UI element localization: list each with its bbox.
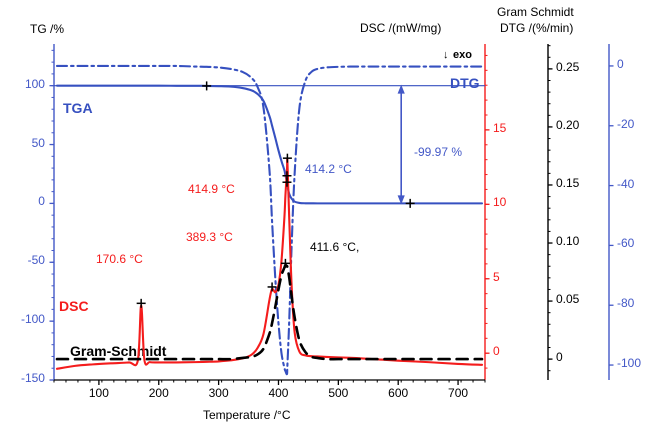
annotation-label-1: 389.3 °C xyxy=(186,230,233,244)
dsc-axis-tick-label: 0 xyxy=(493,344,500,358)
plot-canvas xyxy=(0,0,650,432)
thermal-analysis-figure: TG /% Gram Schmidt DSC /(mW/mg) DTG /(%/… xyxy=(0,0,650,432)
x-axis-tick-label: 200 xyxy=(146,386,172,400)
series-curve-dtg xyxy=(57,66,482,374)
tg-axis-tick-label: 50 xyxy=(31,136,45,150)
tg-axis-tick-label: -100 xyxy=(17,312,45,326)
gram-schmidt-axis-tick-label: 0.20 xyxy=(556,118,579,132)
gram-schmidt-axis-tick-label: 0.15 xyxy=(556,176,579,190)
curves-layer xyxy=(57,66,482,374)
x-axis-tick-label: 700 xyxy=(445,386,471,400)
axes-layer xyxy=(50,44,614,385)
x-axis-tick-label: 100 xyxy=(86,386,112,400)
x-axis-tick-label: 600 xyxy=(385,386,411,400)
x-axis-tick-label: 500 xyxy=(325,386,351,400)
annotation-label-3: 414.2 °C xyxy=(305,162,352,176)
annotation-label-0: 170.6 °C xyxy=(96,252,143,266)
x-axis-tick-label: 400 xyxy=(265,386,291,400)
tg-axis-tick-label: -150 xyxy=(17,371,45,385)
gram-schmidt-axis-tick-label: 0 xyxy=(556,350,563,364)
dsc-axis-tick-label: 5 xyxy=(493,270,500,284)
dtg-axis-tick-label: 0 xyxy=(617,57,624,71)
series-curve-gram-schmidt xyxy=(57,265,482,359)
dsc-axis-tick-label: 15 xyxy=(493,121,506,135)
dtg-axis-tick-label: -40 xyxy=(617,177,634,191)
annotation-label-4: 411.6 °C, xyxy=(310,240,359,254)
tg-axis-tick-label: 100 xyxy=(24,77,45,91)
dtg-axis-tick-label: -60 xyxy=(617,236,634,250)
dtg-axis-tick-label: -20 xyxy=(617,117,634,131)
annotation-label-5: -99.97 % xyxy=(414,145,462,159)
gram-schmidt-axis-tick-label: 0.25 xyxy=(556,60,579,74)
dtg-axis-tick-label: -80 xyxy=(617,296,634,310)
x-axis-tick-label: 300 xyxy=(206,386,232,400)
tg-axis-tick-label: 0 xyxy=(38,194,45,208)
dsc-axis-tick-label: 10 xyxy=(493,195,506,209)
annotation-label-2: 414.9 °C xyxy=(188,182,235,196)
tg-axis-tick-label: -50 xyxy=(24,253,45,267)
gram-schmidt-axis-tick-label: 0.05 xyxy=(556,292,579,306)
dtg-axis-tick-label: -100 xyxy=(617,356,641,370)
gram-schmidt-axis-tick-label: 0.10 xyxy=(556,234,579,248)
